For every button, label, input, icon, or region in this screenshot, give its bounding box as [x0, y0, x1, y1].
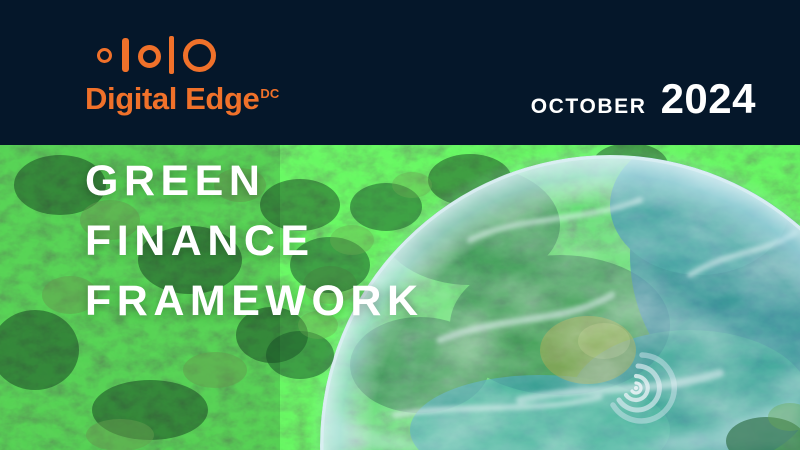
ring-large-icon	[183, 39, 216, 72]
title-line-1: GREEN	[85, 160, 424, 203]
page-title: GREEN FINANCE FRAMEWORK	[85, 160, 424, 323]
bar-thick-icon	[122, 38, 129, 72]
title-line-2: FINANCE	[85, 220, 424, 263]
bar-thin-icon	[169, 36, 174, 74]
header-band: Digital EdgeDC OCTOBER 2024	[0, 0, 800, 145]
brand-superscript: DC	[260, 86, 279, 101]
publication-date: OCTOBER 2024	[531, 75, 756, 123]
brand-wordmark: Digital EdgeDC	[85, 83, 280, 114]
date-month: OCTOBER	[531, 95, 647, 119]
ring-small-icon	[97, 48, 112, 63]
brand-logo[interactable]: Digital EdgeDC	[85, 36, 285, 126]
digital-edge-mark-icon	[97, 36, 212, 74]
cover-page: GREEN FINANCE FRAMEWORK Digital EdgeDC O…	[0, 0, 800, 450]
brand-wordmark-text: Digital Edge	[85, 81, 259, 116]
date-year: 2024	[661, 75, 756, 123]
title-line-3: FRAMEWORK	[85, 280, 424, 323]
ring-medium-icon	[138, 45, 161, 68]
